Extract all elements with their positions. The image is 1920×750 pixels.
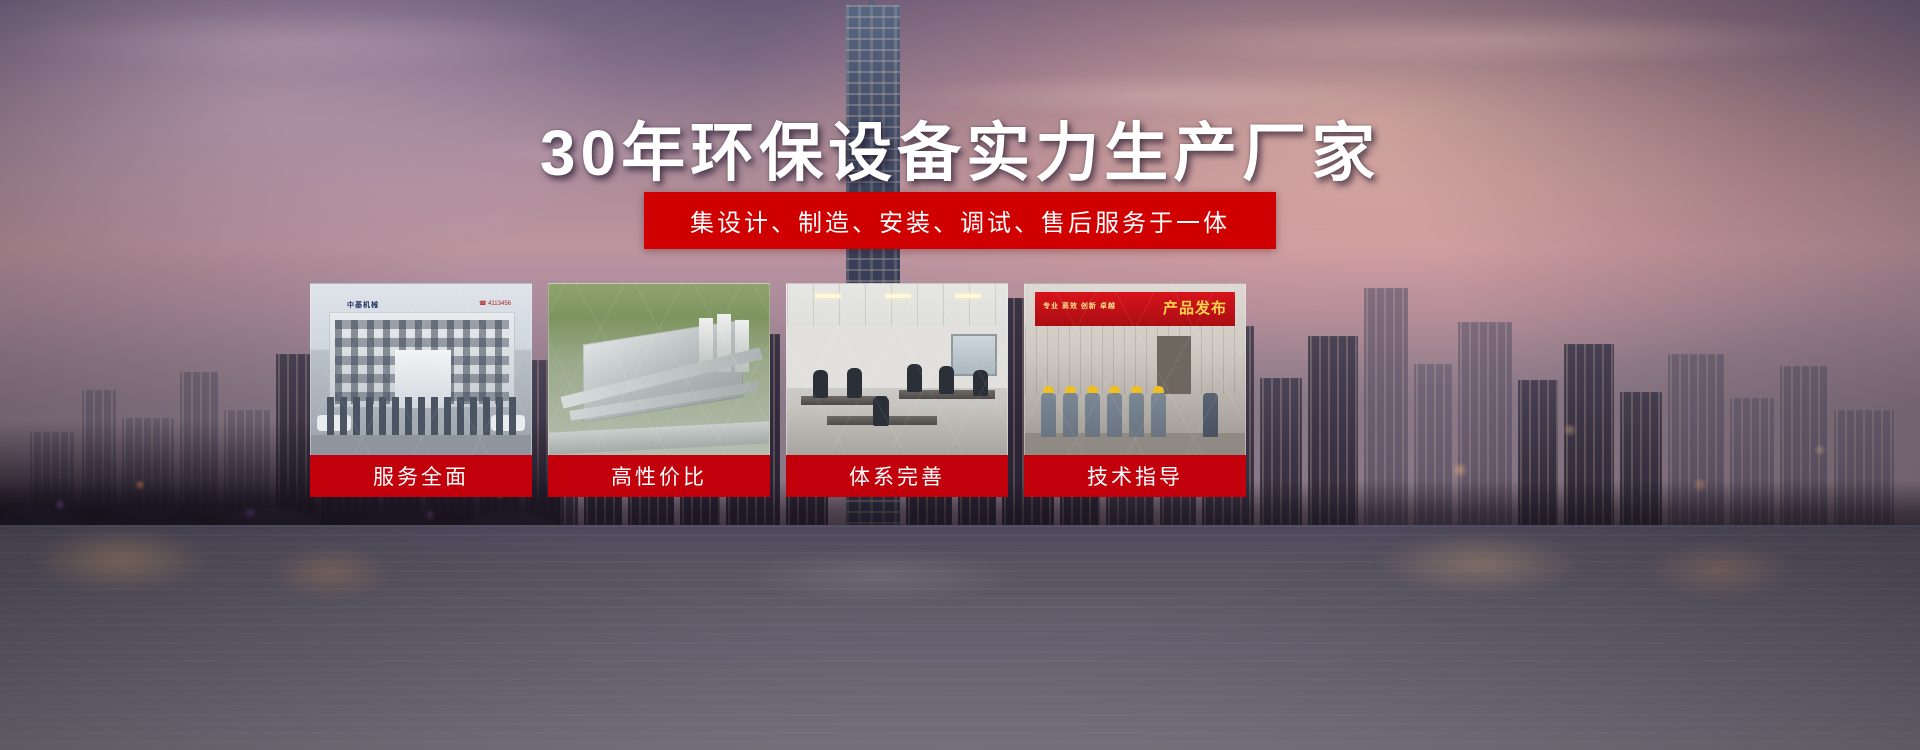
feature-card-list: 中基机械 ☎ 4113456 服务全面	[310, 283, 1246, 497]
workshop-red-banner: 产品发布 专业 高效 创新 卓越	[1035, 292, 1235, 326]
building-sign-text: 中基机械	[347, 300, 379, 310]
feature-card[interactable]: 产品发布 专业 高效 创新 卓越 技术指导	[1024, 283, 1246, 497]
feature-card[interactable]: 中基机械 ☎ 4113456 服务全面	[310, 283, 532, 497]
feature-card-caption: 技术指导	[1024, 455, 1246, 497]
banner-subtitle: 集设计、制造、安装、调试、售后服务于一体	[644, 192, 1276, 249]
feature-card-caption: 高性价比	[548, 455, 770, 497]
feature-card[interactable]: 体系完善	[786, 283, 1008, 497]
building-phone-text: ☎ 4113456	[479, 300, 511, 307]
workshop-banner-subtext: 专业 高效 创新 卓越	[1043, 301, 1227, 311]
workshop-workers-photo: 产品发布 专业 高效 创新 卓越	[1024, 283, 1246, 455]
banner-subtitle-wrap: 集设计、制造、安装、调试、售后服务于一体	[0, 192, 1920, 249]
feature-card-caption: 体系完善	[786, 455, 1008, 497]
feature-card[interactable]: 高性价比	[548, 283, 770, 497]
office-interior-photo	[786, 283, 1008, 455]
company-building-staff-photo: 中基机械 ☎ 4113456	[310, 283, 532, 455]
hero-banner: 30年环保设备实力生产厂家 集设计、制造、安装、调试、售后服务于一体 中基机械 …	[0, 0, 1920, 750]
industrial-plant-aerial-photo	[548, 283, 770, 455]
feature-card-caption: 服务全面	[310, 455, 532, 497]
banner-content: 30年环保设备实力生产厂家 集设计、制造、安装、调试、售后服务于一体 中基机械 …	[0, 0, 1920, 750]
banner-headline: 30年环保设备实力生产厂家	[0, 102, 1920, 194]
